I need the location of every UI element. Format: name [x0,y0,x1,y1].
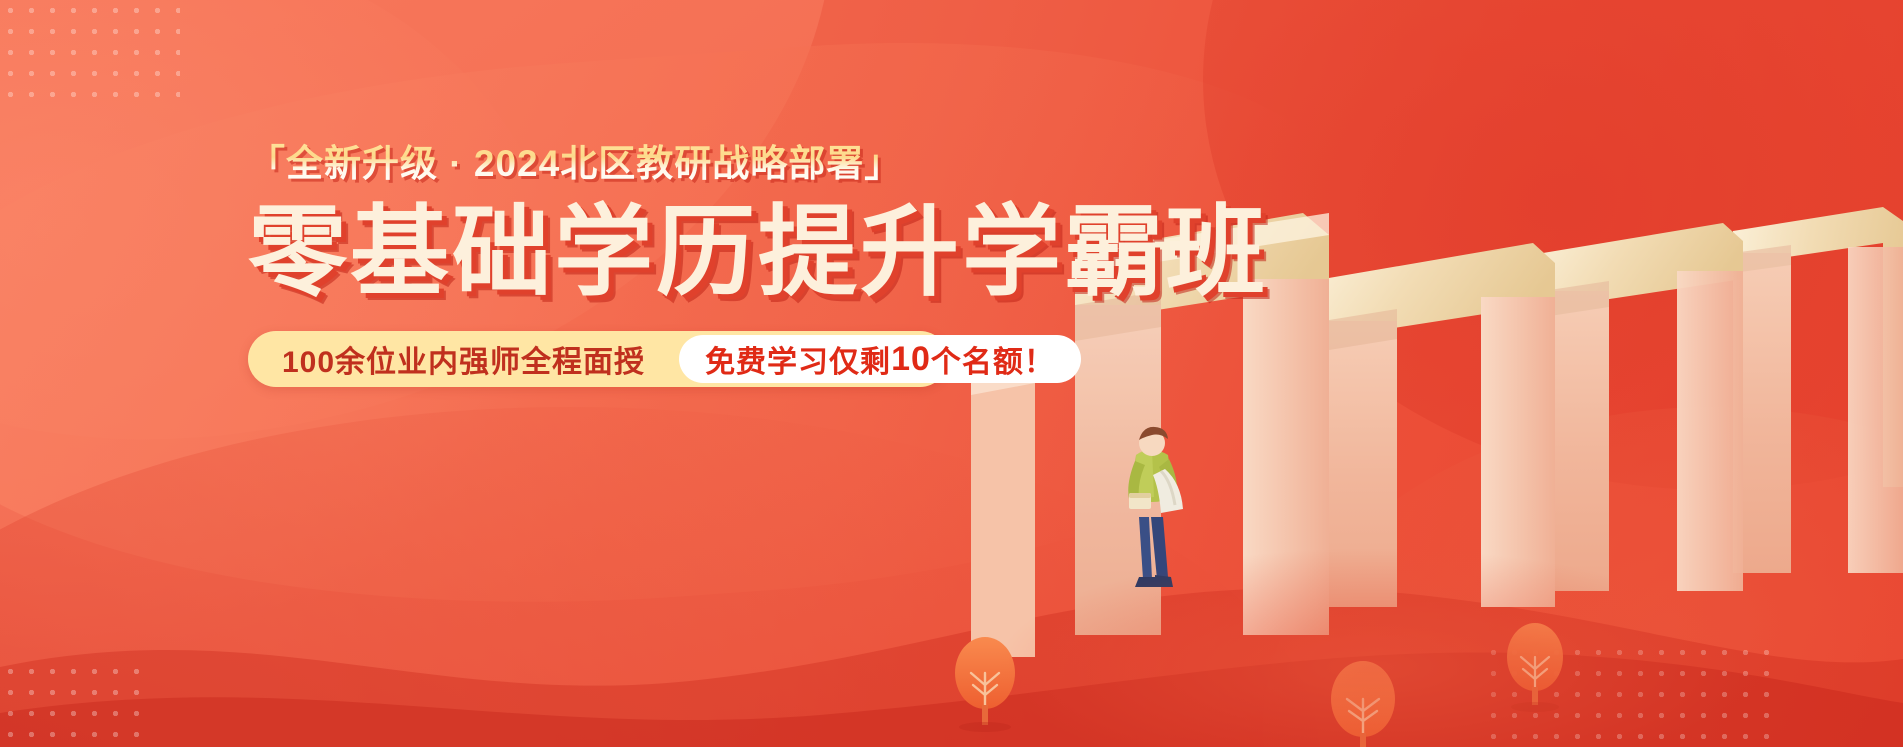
pill-seats-suffix: 个名额！ [931,337,1055,381]
banner-headline: 零基础学历提升学霸班 [248,200,1008,305]
dot-grid-top-left [0,0,180,105]
banner-pill-row: 100余位业内强师全程面授 免费学习仅剩 10 个名额！ [248,331,948,387]
banner-text-block: 「全新升级 · 2024北区教研战略部署」 零基础学历提升学霸班 100余位业内… [248,142,1008,387]
pill-seats-prefix: 免费学习仅剩 [705,337,891,381]
pill-seats-count: 10 [891,340,931,379]
arch-3 [1543,223,1743,591]
pill-teachers-label: 100余位业内强师全程面授 [248,337,675,381]
arch-4 [1733,207,1903,573]
ground-glow [993,547,1753,747]
pill-seats-remaining[interactable]: 免费学习仅剩 10 个名额！ [679,335,1081,383]
dot-grid-bottom-left [0,661,150,747]
banner-eyebrow: 「全新升级 · 2024北区教研战略部署」 [248,142,1008,186]
promo-banner: 「全新升级 · 2024北区教研战略部署」 零基础学历提升学霸班 100余位业内… [0,0,1903,747]
